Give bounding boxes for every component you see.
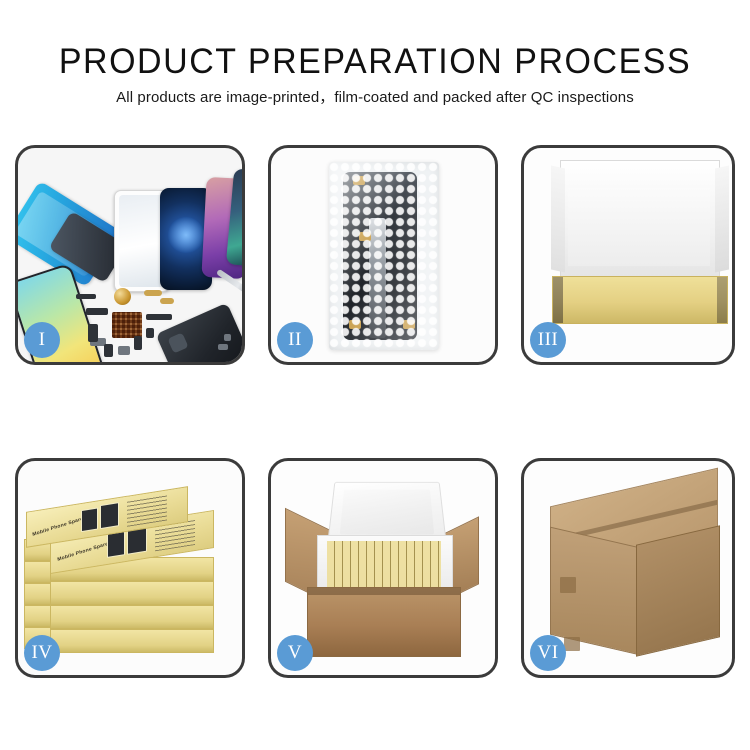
box-window (81, 507, 98, 532)
carton-body-icon (307, 587, 461, 657)
yellow-box-base-icon (552, 276, 728, 324)
step-panel-5[interactable]: V (268, 458, 498, 678)
chip-array-icon (112, 312, 142, 338)
carton-side-face (636, 525, 720, 656)
part-icon (146, 314, 172, 320)
step-badge-1: I (24, 322, 60, 358)
stacked-box (50, 581, 214, 605)
infographic-page: PRODUCT PREPARATION PROCESS All products… (0, 0, 750, 750)
step-badge-4: IV (24, 635, 60, 671)
step-badge-3: III (530, 322, 566, 358)
tape-patch-icon (564, 637, 580, 651)
part-icon (160, 298, 174, 304)
process-grid: I II (0, 0, 750, 750)
bubble-wrap-bag-icon (329, 162, 439, 350)
part-icon (76, 294, 96, 299)
box-window (107, 531, 125, 558)
stacked-box (50, 629, 214, 653)
part-icon (118, 346, 130, 355)
step-panel-1[interactable]: I (15, 145, 245, 365)
part-icon (88, 324, 98, 342)
tape-patch-icon (560, 577, 576, 593)
box-window (100, 502, 119, 529)
part-icon (224, 334, 231, 341)
step-panel-3[interactable]: III (521, 145, 735, 365)
part-icon (86, 308, 108, 315)
yellow-boxes-inside-icon (327, 541, 441, 589)
plastic-sheen (329, 162, 439, 350)
stacked-box (50, 605, 214, 629)
copper-coil-icon (114, 288, 131, 305)
part-icon (218, 344, 228, 350)
phone-back-housing-icon (156, 303, 242, 362)
step-badge-6: VI (530, 635, 566, 671)
part-icon (144, 290, 162, 296)
part-icon (104, 344, 113, 357)
white-foam-icon (568, 188, 710, 266)
part-icon (134, 336, 142, 350)
step-badge-2: II (277, 322, 313, 358)
step-badge-5: V (277, 635, 313, 671)
step-panel-4[interactable]: Mobile Phone Spare Parts Mobile Phone Sp… (15, 458, 245, 678)
step-panel-6[interactable]: VI (521, 458, 735, 678)
step-panel-2[interactable]: II (268, 145, 498, 365)
part-icon (146, 328, 154, 338)
